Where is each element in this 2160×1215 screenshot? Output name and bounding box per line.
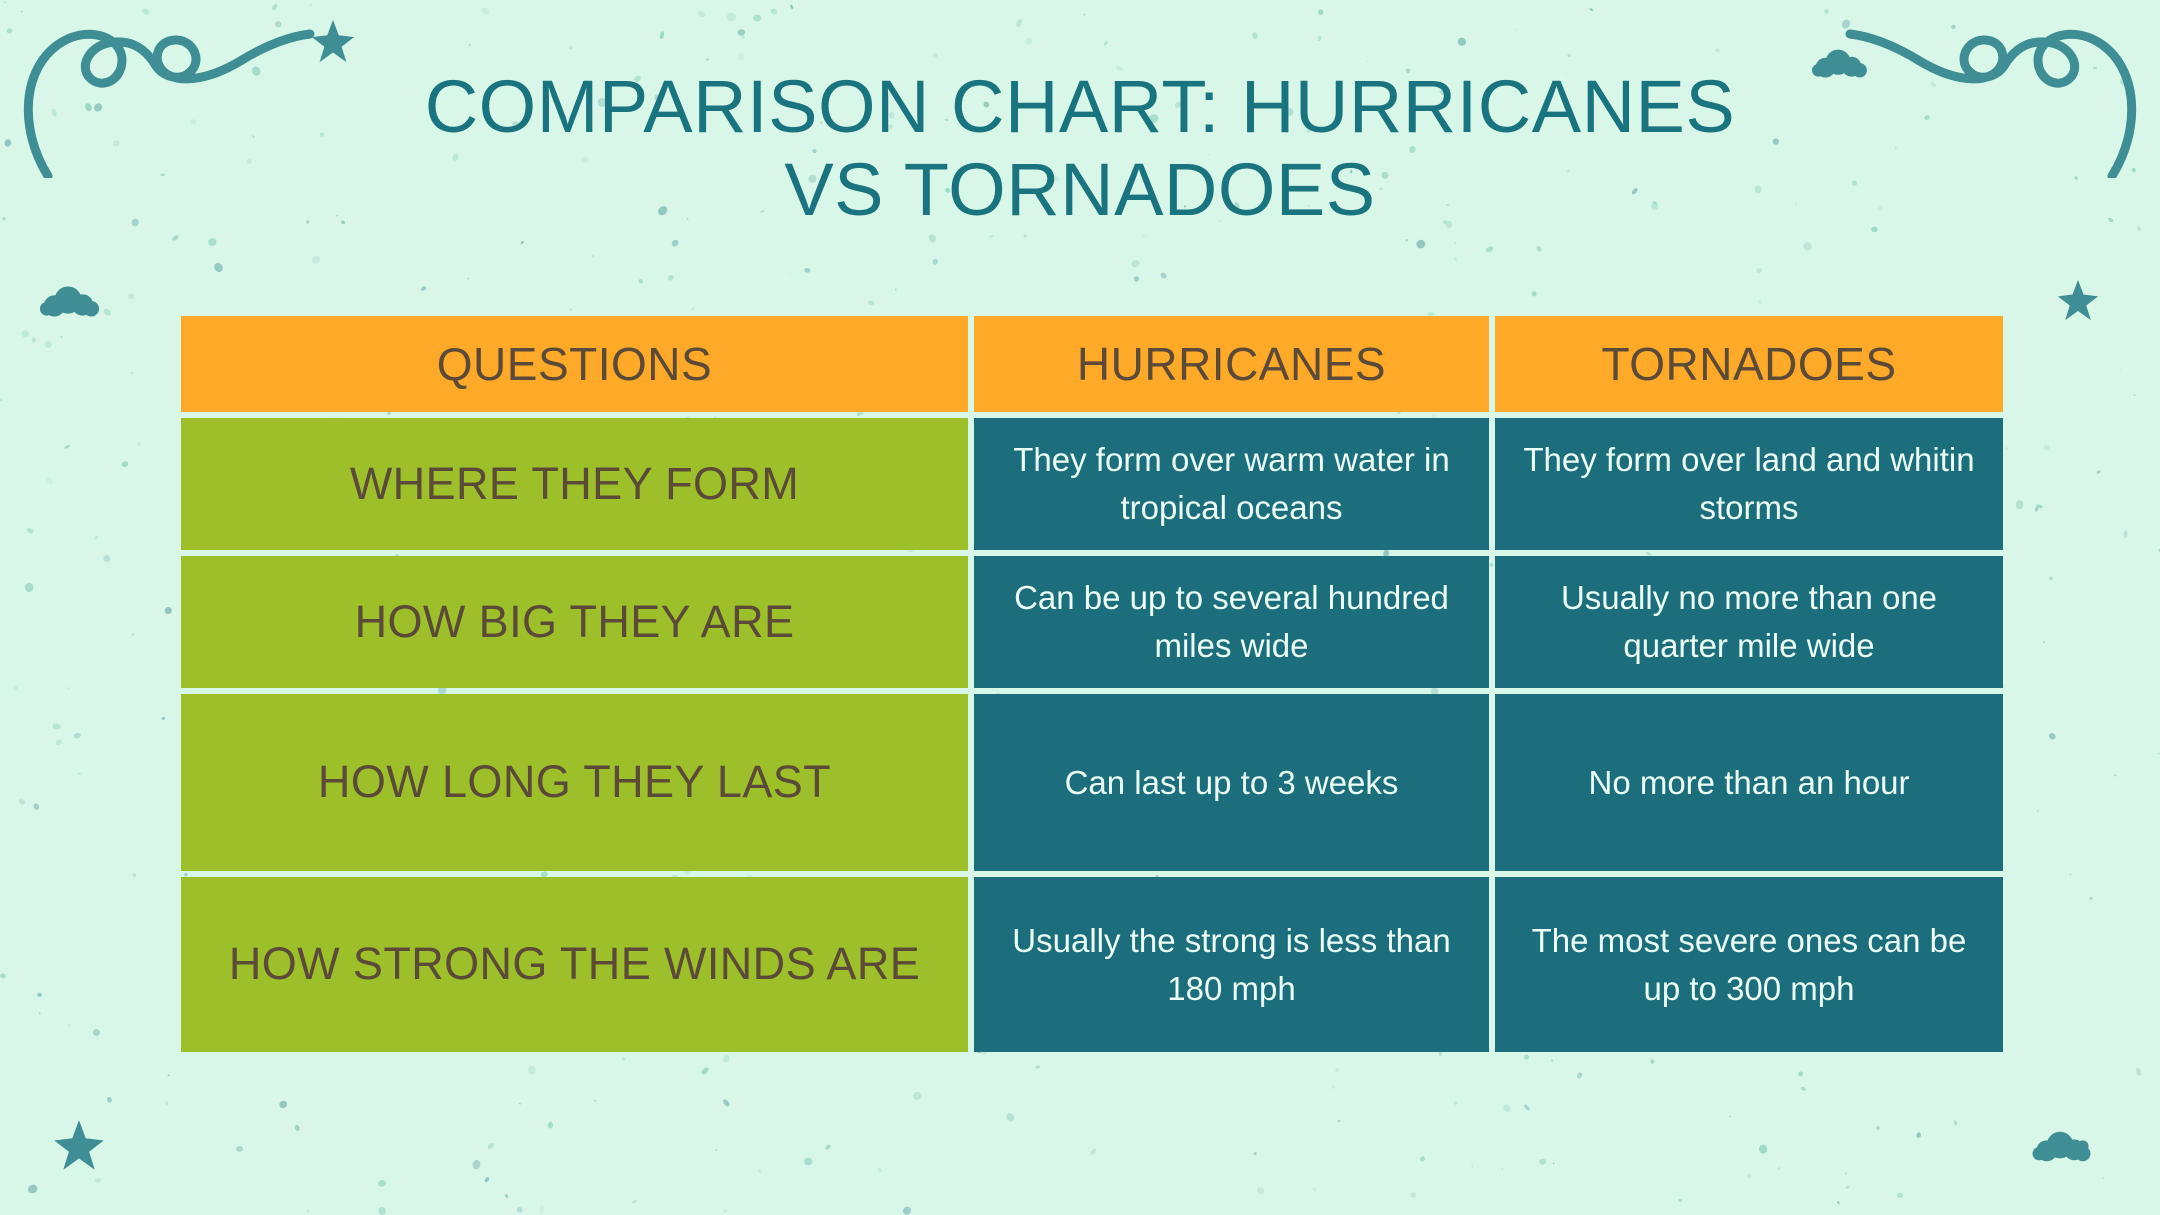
row-question-label: WHERE THEY FORM [181,418,968,550]
star-bottom-left-icon [52,1118,106,1172]
cloud-left-icon [38,282,100,322]
column-header-tornadoes: TORNADOES [1495,316,2003,412]
table-row: HOW STRONG THE WINDS ARE Usually the str… [181,877,2003,1052]
row-question-label: HOW LONG THEY LAST [181,694,968,871]
page-title-line-2: VS TORNADOES [0,149,2160,232]
comparison-table: QUESTIONS HURRICANES TORNADOES WHERE THE… [175,310,2009,1058]
table-header-row: QUESTIONS HURRICANES TORNADOES [181,316,2003,412]
row-hurricanes-value: They form over warm water in tropical oc… [974,418,1489,550]
cloud-bottom-right-icon [2030,1128,2092,1166]
row-hurricanes-value: Usually the strong is less than 180 mph [974,877,1489,1052]
row-question-label: HOW STRONG THE WINDS ARE [181,877,968,1052]
row-tornadoes-value: No more than an hour [1495,694,2003,871]
star-top-left-icon [310,18,356,64]
table-row: HOW BIG THEY ARE Can be up to several hu… [181,556,2003,688]
column-header-hurricanes: HURRICANES [974,316,1489,412]
page-title: COMPARISON CHART: HURRICANES VS TORNADOE… [0,66,2160,232]
star-right-icon [2056,278,2100,322]
row-hurricanes-value: Can last up to 3 weeks [974,694,1489,871]
row-question-label: HOW BIG THEY ARE [181,556,968,688]
row-tornadoes-value: Usually no more than one quarter mile wi… [1495,556,2003,688]
column-header-questions: QUESTIONS [181,316,968,412]
table-row: WHERE THEY FORM They form over warm wate… [181,418,2003,550]
row-hurricanes-value: Can be up to several hundred miles wide [974,556,1489,688]
page-title-line-1: COMPARISON CHART: HURRICANES [0,66,2160,149]
table-row: HOW LONG THEY LAST Can last up to 3 week… [181,694,2003,871]
row-tornadoes-value: They form over land and whitin storms [1495,418,2003,550]
row-tornadoes-value: The most severe ones can be up to 300 mp… [1495,877,2003,1052]
